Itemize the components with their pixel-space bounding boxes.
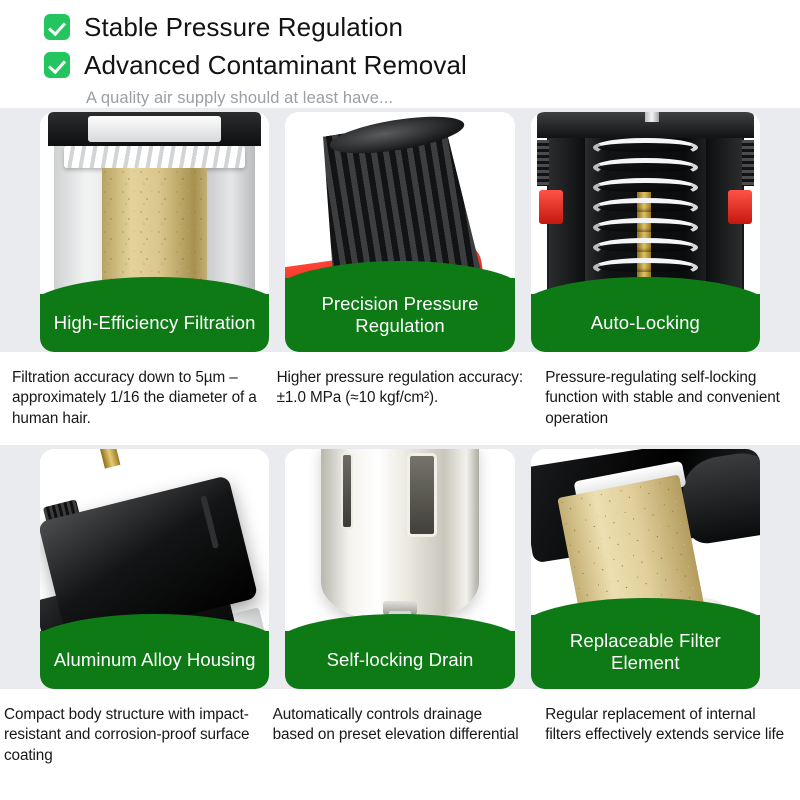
feature-description-5: Regular replacement of internal filters … [533,705,800,766]
feature-caption-0: High-Efficiency Filtration [48,312,262,334]
feature-card-auto-locking[interactable]: Auto-Locking [531,112,760,352]
header: Stable Pressure Regulation Advanced Cont… [0,0,800,108]
feature-card-high-efficiency-filtration[interactable]: High-Efficiency Filtration [40,112,269,352]
feature-row-2: Aluminum Alloy Housing Self-locking Drai… [0,445,800,689]
feature-check-row-1: Stable Pressure Regulation [44,8,800,46]
feature-caption-2: Auto-Locking [585,312,706,334]
feature-description-3: Compact body structure with impact-resis… [0,705,267,766]
feature-description-0: Filtration accuracy down to 5µm – approx… [0,368,267,429]
feature-card-replaceable-filter-element[interactable]: Replaceable Filter Element [531,449,760,689]
feature-caption-band-5: Replaceable Filter Element [531,615,760,689]
feature-card-precision-pressure-regulation[interactable]: Precision Pressure Regulation [285,112,514,352]
feature-description-4: Automatically controls drainage based on… [267,705,534,766]
check-icon [44,52,70,78]
feature-caption-4: Self-locking Drain [321,649,480,671]
feature-check-label-1: Stable Pressure Regulation [84,12,403,43]
feature-cell-3: Aluminum Alloy Housing [32,449,277,689]
feature-cell-1: Precision Pressure Regulation [277,112,522,352]
description-row-1: Filtration accuracy down to 5µm – approx… [0,368,800,429]
header-subtitle: A quality air supply should at least hav… [86,89,800,108]
feature-cell-0: High-Efficiency Filtration [32,112,277,352]
feature-caption-band-4: Self-locking Drain [285,631,514,689]
feature-card-self-locking-drain[interactable]: Self-locking Drain [285,449,514,689]
description-row-2: Compact body structure with impact-resis… [0,705,800,766]
feature-card-aluminum-alloy-housing[interactable]: Aluminum Alloy Housing [40,449,269,689]
feature-caption-band-3: Aluminum Alloy Housing [40,631,269,689]
feature-cell-4: Self-locking Drain [277,449,522,689]
feature-row-1: High-Efficiency Filtration Precision Pre… [0,108,800,352]
feature-caption-band-2: Auto-Locking [531,294,760,352]
feature-caption-5: Replaceable Filter Element [531,630,760,674]
feature-caption-3: Aluminum Alloy Housing [48,649,262,671]
feature-cell-2: Auto-Locking [523,112,768,352]
feature-grid: High-Efficiency Filtration Precision Pre… [0,108,800,766]
feature-caption-band-1: Precision Pressure Regulation [285,278,514,352]
feature-description-2: Pressure-regulating self-locking functio… [533,368,800,429]
feature-cell-5: Replaceable Filter Element [523,449,768,689]
check-icon [44,14,70,40]
feature-caption-1: Precision Pressure Regulation [285,293,514,337]
feature-caption-band-0: High-Efficiency Filtration [40,294,269,352]
feature-description-1: Higher pressure regulation accuracy: ±1.… [267,368,534,429]
feature-check-row-2: Advanced Contaminant Removal [44,46,800,84]
feature-check-label-2: Advanced Contaminant Removal [84,50,467,81]
